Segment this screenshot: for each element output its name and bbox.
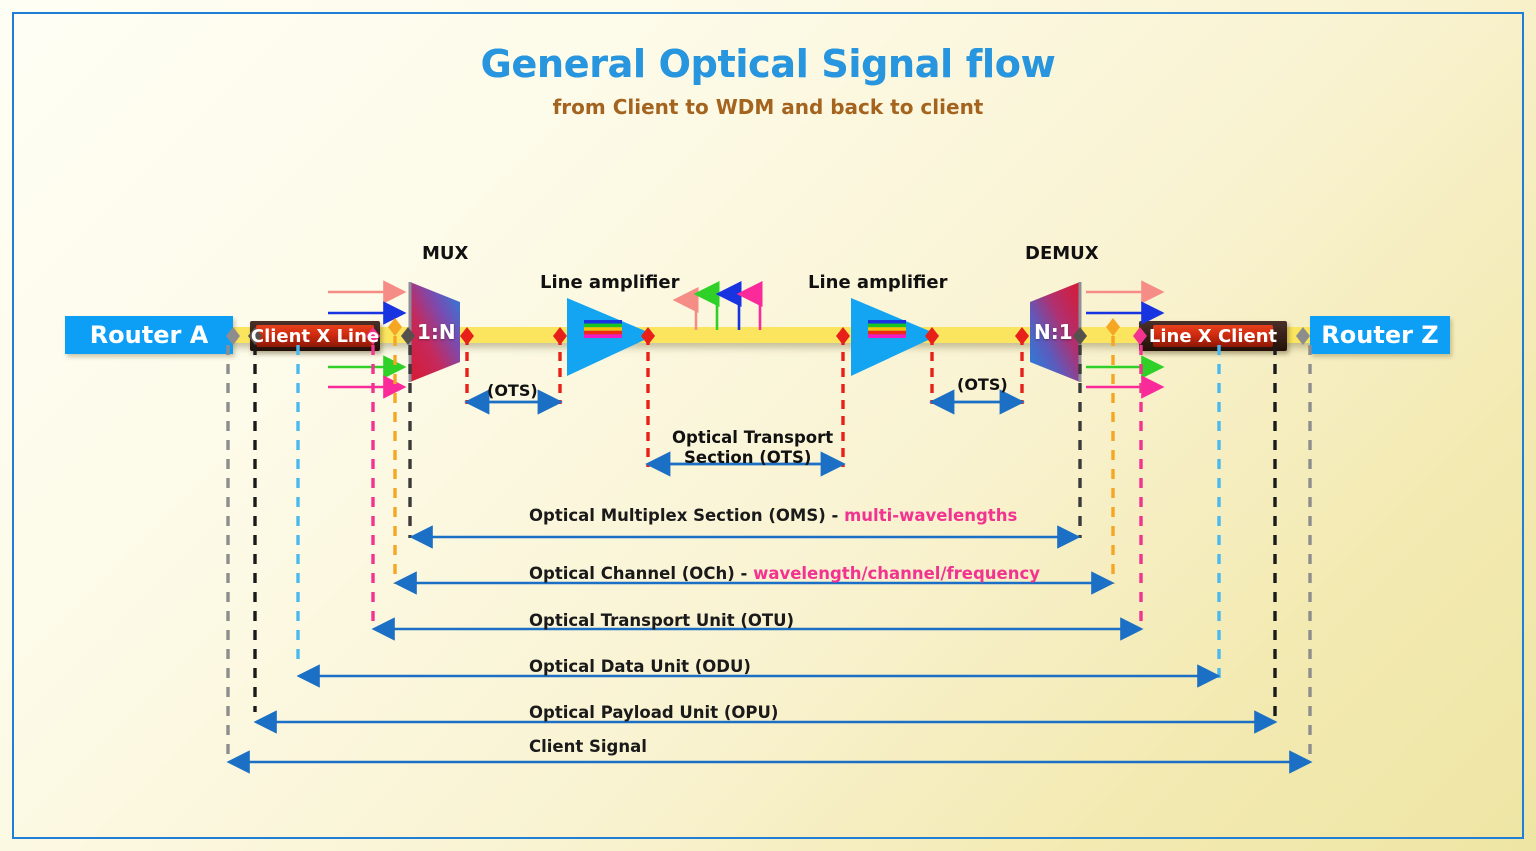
ots-right-label: (OTS) bbox=[957, 375, 1008, 394]
layer-label-otu: Optical Transport Unit (OTU) bbox=[529, 611, 794, 630]
left-dashed-verticals bbox=[228, 336, 410, 758]
layer-accent-och: wavelength/channel/frequency bbox=[753, 564, 1040, 583]
diagram-canvas: General Optical Signal flow from Client … bbox=[0, 0, 1536, 851]
ots-left-label: (OTS) bbox=[487, 381, 538, 400]
tag-client-x-line-label: Client X Line bbox=[251, 326, 379, 347]
tag-line-x-client-label: Line X Client bbox=[1149, 326, 1277, 347]
layer-accent-oms: multi-wavelengths bbox=[844, 506, 1017, 525]
layer-label-oms-text: Optical Multiplex Section (OMS) - bbox=[529, 506, 844, 525]
fiber-node-diamonds bbox=[226, 318, 1310, 345]
layer-label-client-signal: Client Signal bbox=[529, 737, 647, 756]
ots-center-label-line1: Optical Transport bbox=[672, 428, 833, 447]
layer-label-opu: Optical Payload Unit (OPU) bbox=[529, 703, 778, 722]
layer-label-och: Optical Channel (OCh) - wavelength/chann… bbox=[529, 564, 1040, 583]
wavelength-up-arrows bbox=[696, 294, 760, 330]
layer-label-odu: Optical Data Unit (ODU) bbox=[529, 657, 751, 676]
layer-label-och-text: Optical Channel (OCh) - bbox=[529, 564, 753, 583]
layer-label-oms: Optical Multiplex Section (OMS) - multi-… bbox=[529, 506, 1017, 525]
ots-center-label-line2: Section (OTS) bbox=[684, 448, 811, 467]
right-dashed-verticals bbox=[1080, 336, 1310, 762]
fiber-connector-diamonds bbox=[460, 327, 1029, 345]
diagram-overlay bbox=[0, 0, 1536, 851]
